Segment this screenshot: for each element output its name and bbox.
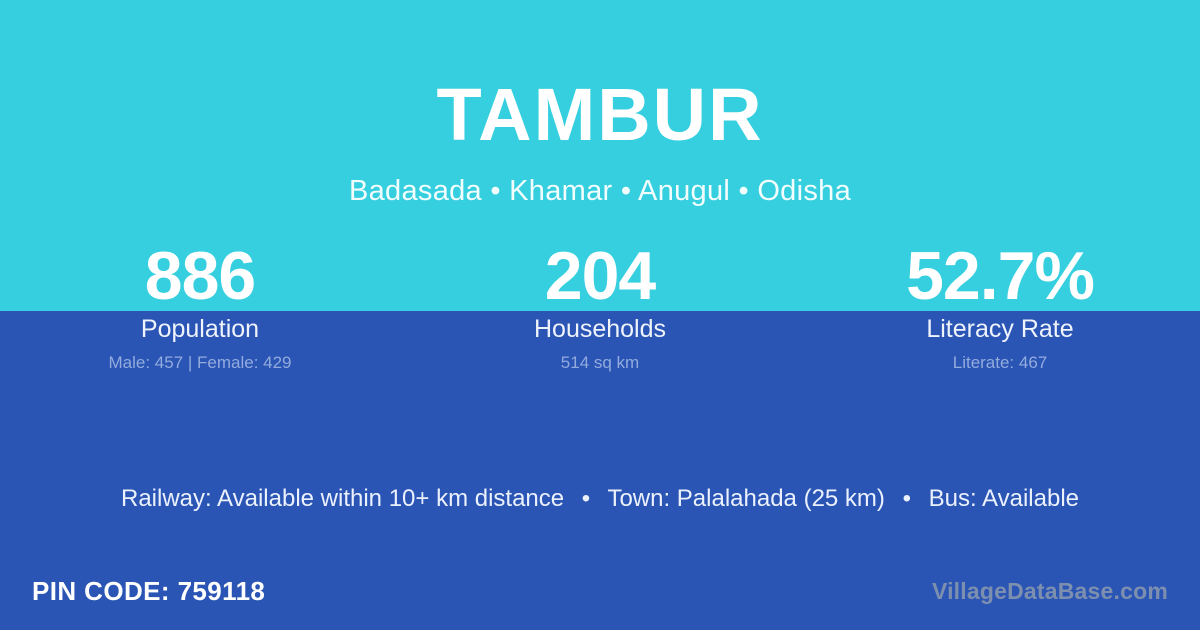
stats-row: 886 Population Male: 457 | Female: 429 2… bbox=[0, 240, 1200, 373]
stat-label: Population bbox=[0, 314, 400, 344]
stat-detail: 514 sq km bbox=[400, 353, 800, 373]
stat-value: 204 bbox=[400, 240, 800, 312]
pin-code: PIN CODE: 759118 bbox=[32, 576, 265, 607]
stat-population: 886 Population Male: 457 | Female: 429 bbox=[0, 240, 400, 373]
site-brand: VillageDataBase.com bbox=[932, 578, 1168, 605]
infra-separator-dot: • bbox=[892, 485, 922, 512]
infra-separator-dot: • bbox=[571, 485, 601, 512]
title-block: TAMBUR Badasada • Khamar • Anugul • Odis… bbox=[0, 78, 1200, 209]
infra-nearest-town: Town: Palalahada (25 km) bbox=[607, 485, 884, 512]
stat-value: 886 bbox=[0, 240, 400, 312]
location-breadcrumb: Badasada • Khamar • Anugul • Odisha bbox=[0, 174, 1200, 209]
infra-railway: Railway: Available within 10+ km distanc… bbox=[121, 485, 564, 512]
infra-bus: Bus: Available bbox=[929, 485, 1079, 512]
stat-detail: Male: 457 | Female: 429 bbox=[0, 353, 400, 373]
stat-value: 52.7% bbox=[800, 240, 1200, 312]
stat-label: Literacy Rate bbox=[800, 314, 1200, 344]
page-title: TAMBUR bbox=[0, 78, 1200, 152]
stat-detail: Literate: 467 bbox=[800, 353, 1200, 373]
stat-label: Households bbox=[400, 314, 800, 344]
village-info-card: TAMBUR Badasada • Khamar • Anugul • Odis… bbox=[0, 0, 1200, 630]
footer: PIN CODE: 759118 VillageDataBase.com bbox=[0, 552, 1200, 630]
infrastructure-row: Railway: Available within 10+ km distanc… bbox=[0, 483, 1200, 515]
stat-literacy-rate: 52.7% Literacy Rate Literate: 467 bbox=[800, 240, 1200, 373]
stat-households: 204 Households 514 sq km bbox=[400, 240, 800, 373]
